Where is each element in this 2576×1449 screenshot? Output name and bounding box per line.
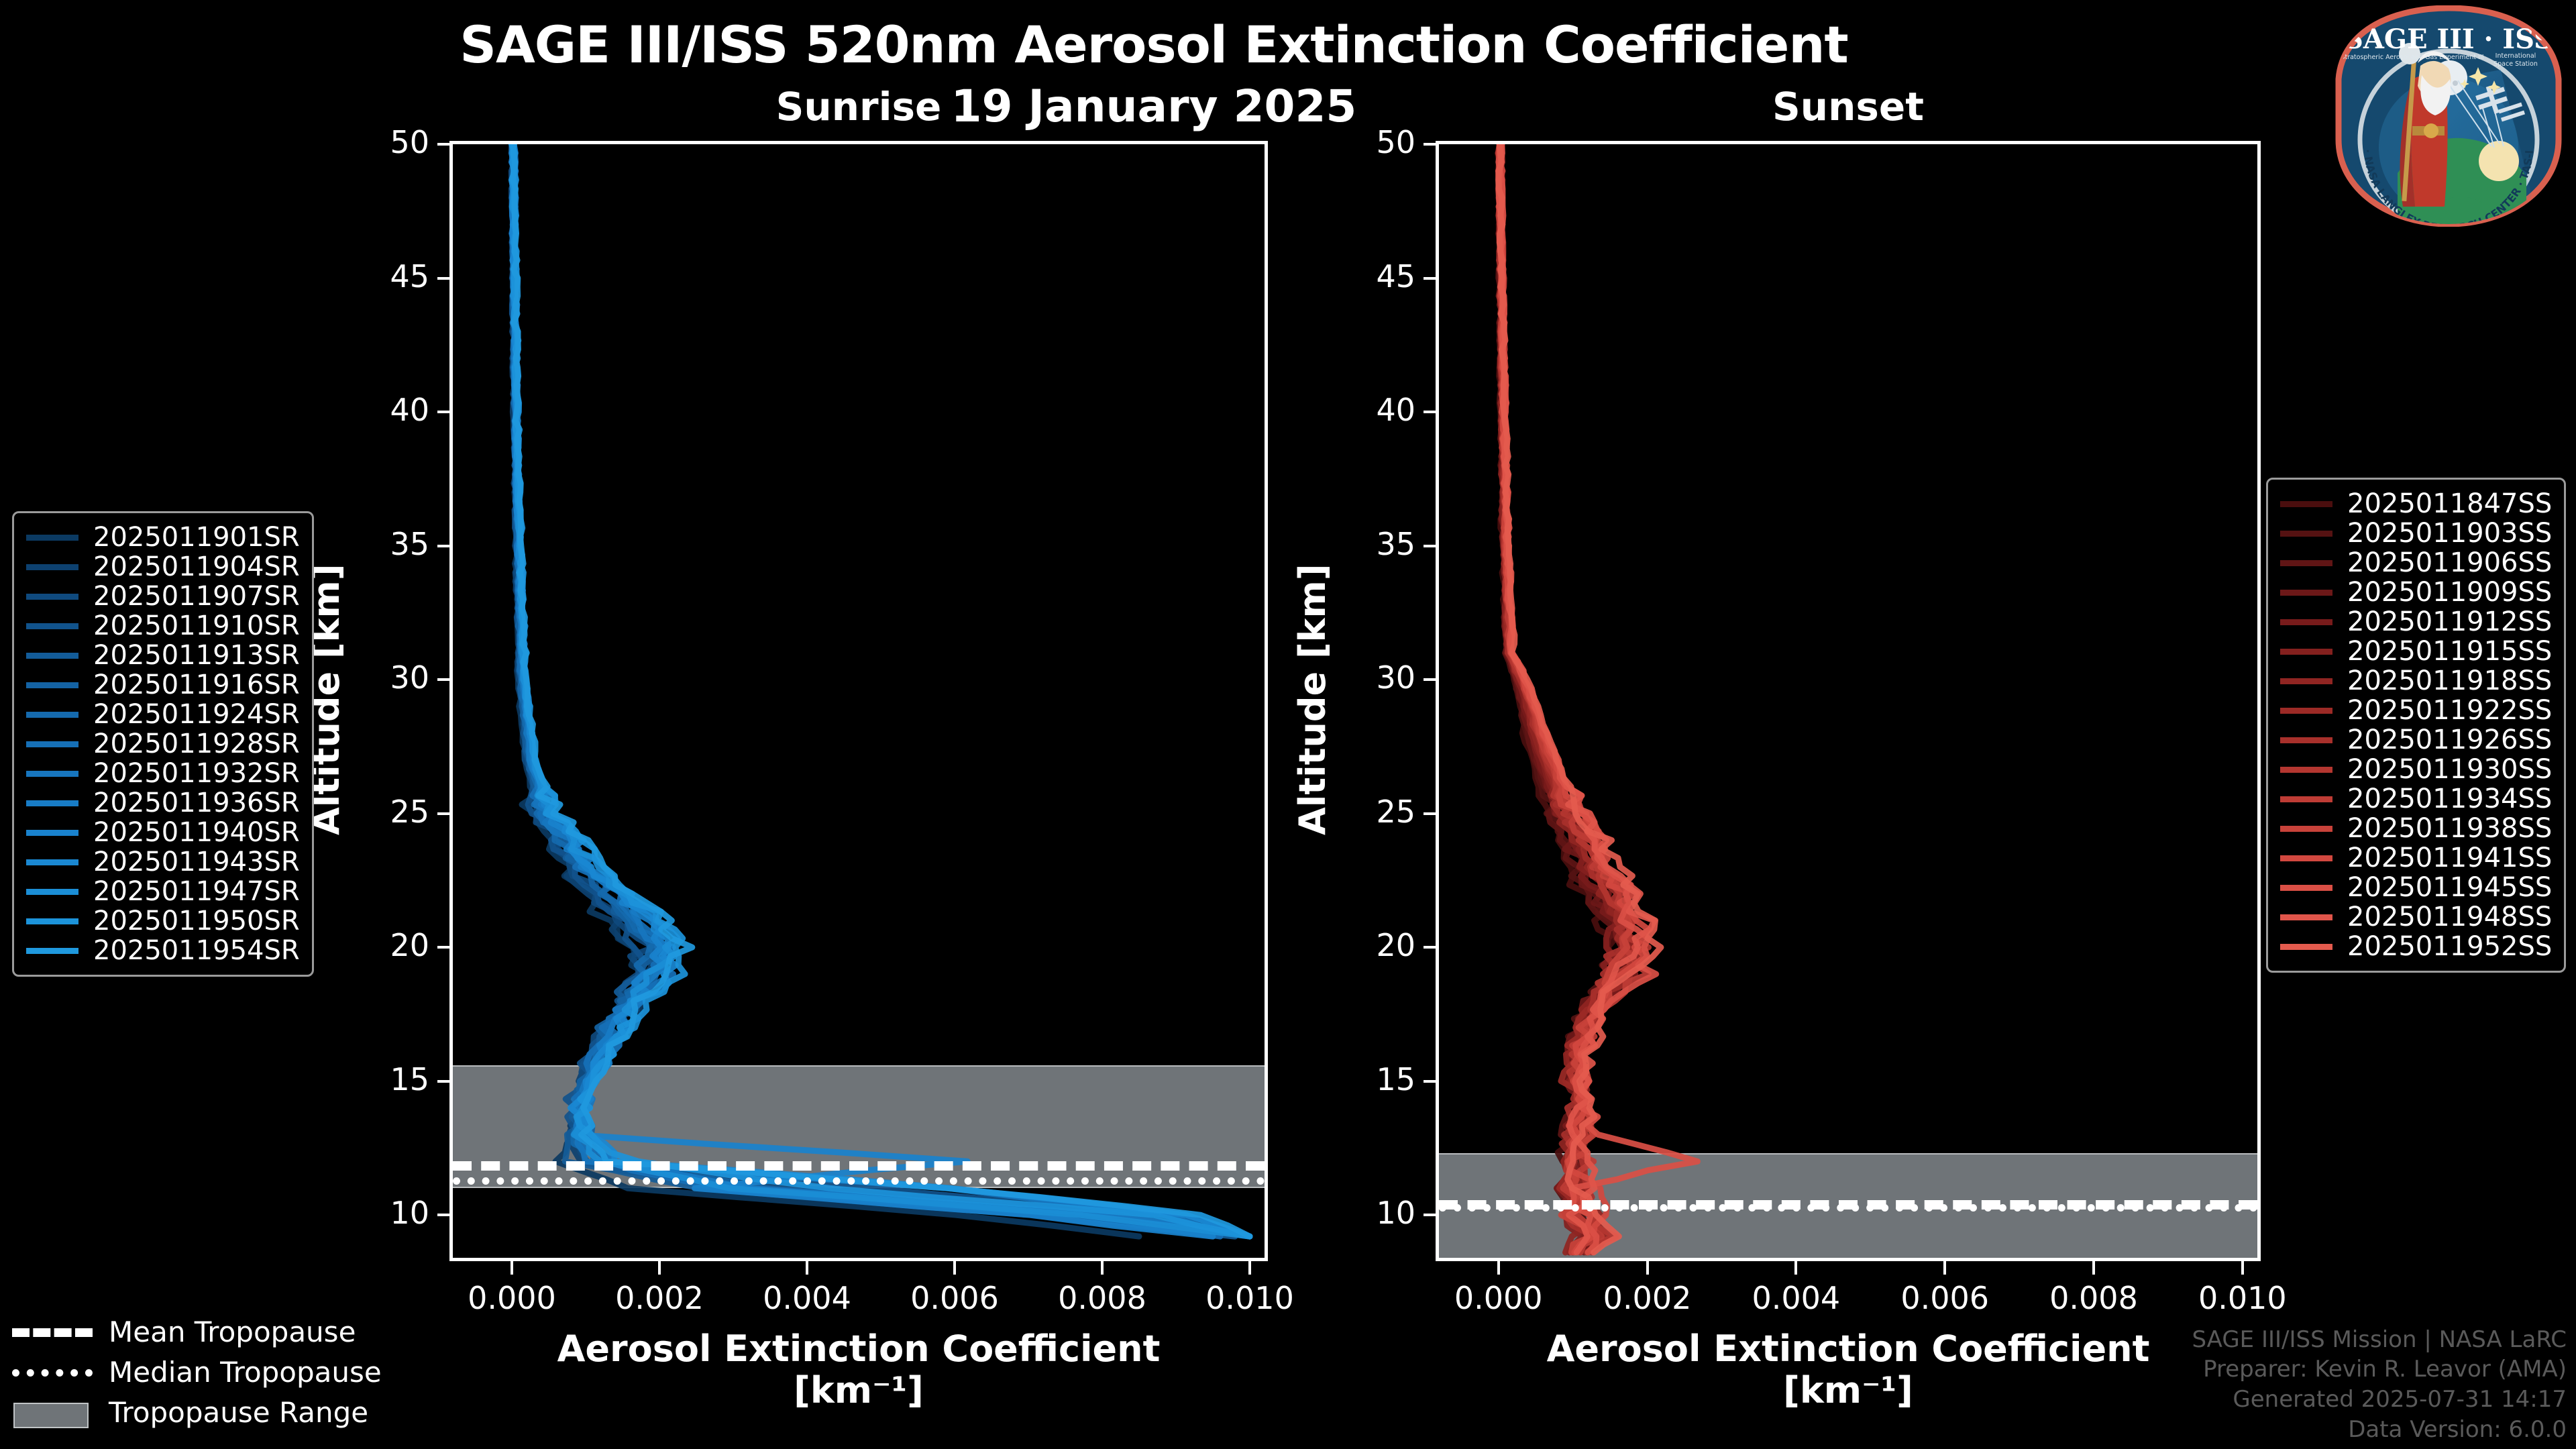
y-axis-tick [1424, 812, 1437, 815]
y-axis-tick-label: 15 [322, 1061, 429, 1097]
sage-iii-iss-logo: SAGE III · ISS Stratospheric Aerosol and… [2333, 5, 2564, 227]
legend-item[interactable]: 2025011922SS [2280, 696, 2552, 725]
profile-line [512, 144, 1250, 1236]
legend-item-label: 2025011915SS [2347, 636, 2552, 667]
legend-color-swatch [26, 918, 78, 924]
y-axis-tick [1424, 1214, 1437, 1216]
x-axis-tick-label: 0.008 [1028, 1280, 1176, 1316]
y-axis-tick [437, 545, 451, 547]
sunset-plot-area [1436, 141, 2261, 1261]
profile-line [512, 144, 1250, 1236]
x-axis-tick [953, 1261, 956, 1275]
profile-line [1498, 144, 1625, 1252]
y-axis-tick-label: 20 [322, 927, 429, 963]
x-axis-tick-label: 0.004 [733, 1280, 881, 1316]
legend-item[interactable]: 2025011954SR [26, 936, 300, 965]
legend-item[interactable]: 2025011910SR [26, 611, 300, 641]
y-axis-tick-label: 40 [322, 392, 429, 428]
x-axis-tick [1248, 1261, 1251, 1275]
x-axis-tick-label: 0.006 [881, 1280, 1028, 1316]
y-axis-tick [437, 1214, 451, 1216]
y-axis-tick-label: 15 [1308, 1061, 1415, 1097]
x-axis-units: [km⁻¹] [1436, 1370, 2261, 1411]
legend-item[interactable]: 2025011847SS [2280, 489, 2552, 519]
legend-color-swatch [2280, 855, 2332, 861]
legend-color-swatch [26, 564, 78, 570]
legend-item-label: 2025011903SS [2347, 518, 2552, 549]
legend-item-label: 2025011913SR [93, 640, 300, 671]
legend-color-swatch [26, 948, 78, 954]
credits-block: SAGE III/ISS Mission | NASA LaRC Prepare… [2192, 1325, 2567, 1446]
key-label-mean: Mean Tropopause [109, 1316, 356, 1348]
legend-item-label: 2025011950SR [93, 906, 300, 936]
y-axis-tick [437, 411, 451, 413]
x-axis-tick-label: 0.000 [1425, 1280, 1572, 1316]
legend-color-swatch [2280, 501, 2332, 507]
legend-color-swatch [2280, 826, 2332, 832]
y-axis-tick [437, 812, 451, 815]
legend-color-swatch [2280, 796, 2332, 802]
legend-color-swatch [2280, 619, 2332, 625]
legend-item-label: 2025011916SR [93, 669, 300, 700]
x-axis-tick [1794, 1261, 1797, 1275]
legend-item[interactable]: 2025011924SR [26, 700, 300, 729]
profile-curves [453, 144, 1265, 1258]
legend-item-label: 2025011918SS [2347, 665, 2552, 696]
profile-line [511, 144, 1235, 1236]
profile-line [513, 144, 1250, 1236]
legend-item-label: 2025011932SR [93, 758, 300, 789]
x-axis-tick-label: 0.010 [1176, 1280, 1324, 1316]
y-axis-tick-label: 45 [322, 258, 429, 294]
legend-item[interactable]: 2025011916SR [26, 670, 300, 700]
legend-color-swatch [26, 712, 78, 718]
y-axis-title: Altitude [km] [1291, 564, 1334, 836]
legend-item-label: 2025011928SR [93, 729, 300, 759]
legend-color-swatch [2280, 737, 2332, 743]
key-label-range: Tropopause Range [109, 1396, 368, 1429]
profile-line [512, 144, 1250, 1236]
legend-item[interactable]: 2025011938SS [2280, 814, 2552, 843]
legend-item-label: 2025011926SS [2347, 724, 2552, 755]
legend-item-label: 2025011952SS [2347, 931, 2552, 962]
profile-curves [1439, 144, 2257, 1258]
y-axis-tick-label: 45 [1308, 258, 1415, 294]
y-axis-tick [437, 946, 451, 949]
sunrise-legend: 2025011901SR2025011904SR2025011907SR2025… [12, 511, 314, 977]
legend-color-swatch [26, 830, 78, 836]
legend-item-label: 2025011930SS [2347, 754, 2552, 785]
x-axis-tick [2241, 1261, 2244, 1275]
x-axis-tick [1101, 1261, 1104, 1275]
x-axis-tick-label: 0.002 [1574, 1280, 1721, 1316]
x-axis-tick-label: 0.004 [1722, 1280, 1870, 1316]
legend-color-swatch [2280, 560, 2332, 566]
legend-color-swatch [2280, 678, 2332, 684]
legend-item[interactable]: 2025011926SS [2280, 725, 2552, 755]
y-axis-tick [437, 277, 451, 280]
legend-item[interactable]: 2025011901SR [26, 523, 300, 552]
legend-item-label: 2025011947SR [93, 876, 300, 907]
legend-color-swatch [26, 771, 78, 777]
y-axis-tick [1424, 1080, 1437, 1083]
sunrise-panel-title: Sunrise [449, 84, 1268, 129]
legend-color-swatch [26, 623, 78, 629]
svg-text:SAGE III · ISS: SAGE III · ISS [2344, 23, 2553, 55]
y-axis-tick [437, 678, 451, 681]
credit-line-mission: SAGE III/ISS Mission | NASA LaRC [2192, 1325, 2567, 1355]
legend-item-label: 2025011904SR [93, 551, 300, 582]
legend-color-swatch [2280, 531, 2332, 537]
profile-line [513, 144, 1250, 1236]
legend-color-swatch [26, 741, 78, 747]
legend-item-label: 2025011936SR [93, 788, 300, 818]
x-axis-tick-label: 0.006 [1871, 1280, 2019, 1316]
legend-item[interactable]: 2025011918SS [2280, 666, 2552, 696]
legend-item[interactable]: 2025011940SR [26, 818, 300, 847]
profile-line [512, 144, 1250, 1236]
y-axis-tick [437, 143, 451, 146]
x-axis-tick [511, 1261, 513, 1275]
legend-color-swatch [2280, 885, 2332, 891]
sunset-legend: 2025011847SS2025011903SS2025011906SS2025… [2266, 478, 2566, 973]
y-axis-tick-label: 40 [1308, 392, 1415, 428]
legend-item[interactable]: 2025011913SR [26, 641, 300, 670]
profile-line [512, 144, 1250, 1236]
y-axis-tick-label: 35 [1308, 526, 1415, 562]
legend-item-label: 2025011910SR [93, 610, 300, 641]
y-axis-tick [1424, 411, 1437, 413]
legend-item-label: 2025011912SS [2347, 606, 2552, 637]
legend-item-label: 2025011907SR [93, 581, 300, 612]
legend-item-label: 2025011941SS [2347, 843, 2552, 873]
legend-item-label: 2025011943SR [93, 847, 300, 877]
legend-item[interactable]: 2025011909SS [2280, 578, 2552, 607]
legend-color-swatch [2280, 590, 2332, 596]
legend-item-label: 2025011847SS [2347, 488, 2552, 519]
y-axis-tick-label: 10 [1308, 1195, 1415, 1231]
legend-item[interactable]: 2025011945SS [2280, 873, 2552, 902]
x-axis-title-text: Aerosol Extinction Coefficient [449, 1328, 1268, 1370]
legend-color-swatch [26, 653, 78, 659]
y-axis-tick-label: 35 [322, 526, 429, 562]
legend-item-label: 2025011922SS [2347, 695, 2552, 726]
dashed-line-icon [12, 1324, 93, 1340]
legend-item-label: 2025011909SS [2347, 577, 2552, 608]
x-axis-tick [1646, 1261, 1649, 1275]
x-axis-tick-label: 0.002 [586, 1280, 733, 1316]
y-axis-tick-label: 20 [1308, 927, 1415, 963]
filled-rectangle-icon [12, 1404, 93, 1420]
legend-item[interactable]: 2025011934SS [2280, 784, 2552, 814]
legend-item[interactable]: 2025011932SR [26, 759, 300, 788]
legend-item[interactable]: 2025011947SR [26, 877, 300, 906]
x-axis-title-text: Aerosol Extinction Coefficient [1436, 1328, 2261, 1370]
legend-item-label: 2025011954SR [93, 935, 300, 966]
profile-line [512, 144, 1220, 1236]
legend-item-label: 2025011940SR [93, 817, 300, 848]
legend-item[interactable]: 2025011943SR [26, 847, 300, 877]
y-axis-tick-label: 50 [322, 124, 429, 160]
dotted-line-icon [12, 1364, 93, 1380]
x-axis-title: Aerosol Extinction Coefficient[km⁻¹] [1436, 1328, 2261, 1411]
x-axis-tick [2092, 1261, 2095, 1275]
profile-line [1499, 144, 1698, 1252]
x-axis-tick [658, 1261, 661, 1275]
y-axis-tick-label: 10 [322, 1195, 429, 1231]
legend-item[interactable]: 2025011915SS [2280, 637, 2552, 666]
y-axis-tick [1424, 277, 1437, 280]
key-row-range: Tropopause Range [12, 1392, 382, 1432]
sunrise-plot-area [449, 141, 1268, 1261]
legend-item-label: 2025011924SR [93, 699, 300, 730]
legend-item[interactable]: 2025011950SR [26, 906, 300, 936]
key-row-median: Median Tropopause [12, 1352, 382, 1392]
page-title: SAGE III/ISS 520nm Aerosol Extinction Co… [0, 15, 2308, 74]
legend-color-swatch [26, 594, 78, 600]
legend-item[interactable]: 2025011941SS [2280, 843, 2552, 873]
legend-color-swatch [26, 859, 78, 865]
legend-item[interactable]: 2025011952SS [2280, 932, 2552, 961]
profile-line [512, 144, 1250, 1236]
y-axis-tick [1424, 143, 1437, 146]
mean-tropopause-line [453, 1161, 1265, 1171]
key-row-mean: Mean Tropopause [12, 1311, 382, 1352]
legend-color-swatch [26, 682, 78, 688]
legend-item-label: 2025011901SR [93, 522, 300, 553]
legend-item[interactable]: 2025011928SR [26, 729, 300, 759]
legend-color-swatch [2280, 649, 2332, 655]
profile-line [512, 144, 1213, 1236]
credit-line-version: Data Version: 6.0.0 [2192, 1415, 2567, 1445]
x-axis-tick [806, 1261, 808, 1275]
legend-color-swatch [2280, 914, 2332, 920]
mission-patch-icon: SAGE III · ISS Stratospheric Aerosol and… [2333, 5, 2564, 227]
tropopause-key: Mean Tropopause Median Tropopause Tropop… [12, 1311, 382, 1432]
x-axis-units: [km⁻¹] [449, 1370, 1268, 1411]
legend-item-label: 2025011948SS [2347, 902, 2552, 932]
legend-color-swatch [26, 889, 78, 895]
x-axis-tick-label: 0.010 [2169, 1280, 2316, 1316]
legend-item-label: 2025011945SS [2347, 872, 2552, 903]
legend-color-swatch [2280, 944, 2332, 950]
legend-item-label: 2025011938SS [2347, 813, 2552, 844]
legend-item-label: 2025011906SS [2347, 547, 2552, 578]
legend-item[interactable]: 2025011906SS [2280, 548, 2552, 578]
legend-item[interactable]: 2025011904SR [26, 552, 300, 582]
x-axis-tick [1943, 1261, 1946, 1275]
svg-text:International: International [2495, 52, 2536, 60]
profile-line [512, 144, 1250, 1236]
credit-line-preparer: Preparer: Kevin R. Leavor (AMA) [2192, 1354, 2567, 1385]
key-label-median: Median Tropopause [109, 1356, 382, 1389]
profile-line [511, 144, 1213, 1236]
x-axis-title: Aerosol Extinction Coefficient[km⁻¹] [449, 1328, 1268, 1411]
legend-color-swatch [26, 535, 78, 541]
legend-item[interactable]: 2025011948SS [2280, 902, 2552, 932]
y-axis-tick [1424, 545, 1437, 547]
profile-line [511, 144, 1250, 1236]
sunset-panel-title: Sunset [1436, 84, 2261, 129]
svg-text:Stratospheric Aerosol and Gas: Stratospheric Aerosol and Gas Experiment… [2341, 54, 2483, 61]
legend-item[interactable]: 2025011912SS [2280, 607, 2552, 637]
x-axis-tick [1497, 1261, 1500, 1275]
credit-line-generated: Generated 2025-07-31 14:17 [2192, 1385, 2567, 1415]
legend-item-label: 2025011934SS [2347, 784, 2552, 814]
legend-item[interactable]: 2025011907SR [26, 582, 300, 611]
legend-item[interactable]: 2025011903SS [2280, 519, 2552, 548]
y-axis-tick [1424, 946, 1437, 949]
legend-color-swatch [26, 800, 78, 806]
y-axis-tick-label: 50 [1308, 124, 1415, 160]
y-axis-tick [1424, 678, 1437, 681]
legend-color-swatch [2280, 767, 2332, 773]
svg-text:Space Station: Space Station [2493, 60, 2538, 68]
median-tropopause-line [1439, 1204, 2257, 1212]
x-axis-tick-label: 0.008 [2020, 1280, 2167, 1316]
median-tropopause-line [453, 1177, 1265, 1185]
x-axis-tick-label: 0.000 [438, 1280, 586, 1316]
y-axis-tick [437, 1080, 451, 1083]
legend-color-swatch [2280, 708, 2332, 714]
legend-item[interactable]: 2025011930SS [2280, 755, 2552, 784]
legend-item[interactable]: 2025011936SR [26, 788, 300, 818]
